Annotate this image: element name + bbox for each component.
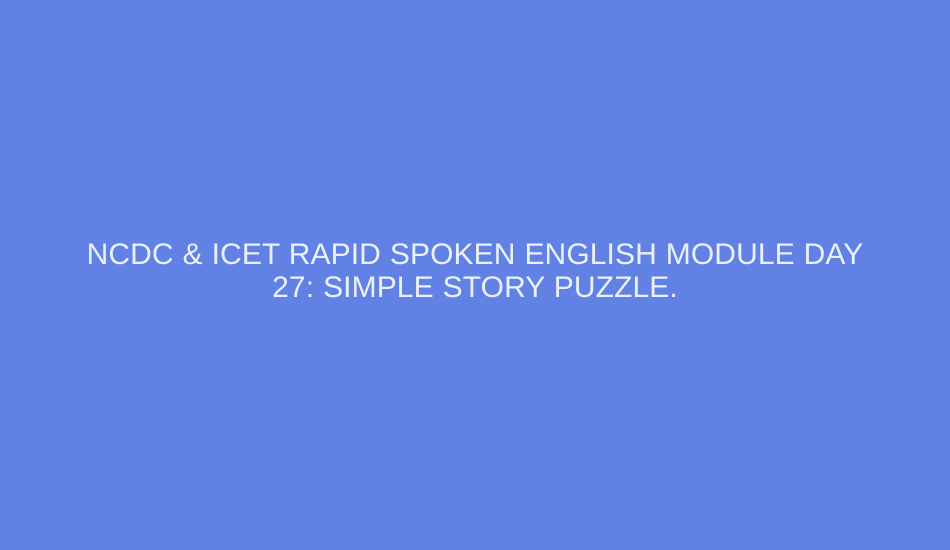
title-block: NCDC & ICET RAPID SPOKEN ENGLISH MODULE … <box>80 238 870 304</box>
placeholder-title-card: NCDC & ICET RAPID SPOKEN ENGLISH MODULE … <box>0 0 950 550</box>
page-title: NCDC & ICET RAPID SPOKEN ENGLISH MODULE … <box>80 238 870 304</box>
